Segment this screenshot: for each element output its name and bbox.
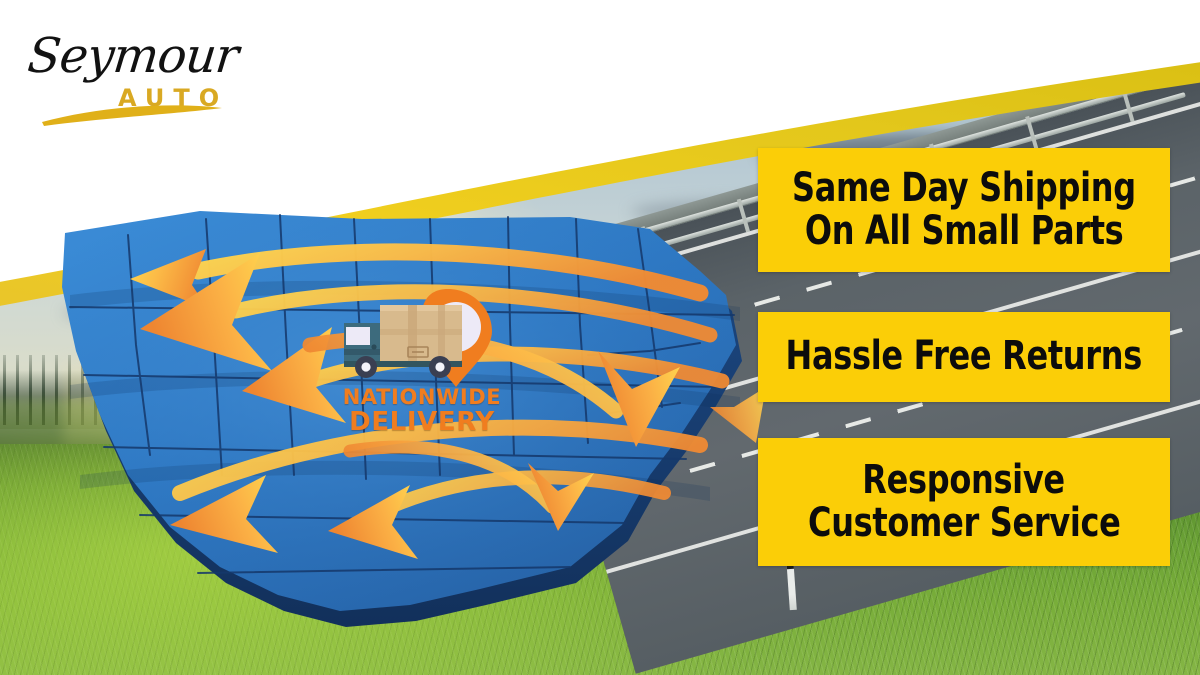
delivery-truck-and-pin-icons: [322, 283, 522, 393]
nationwide-delivery-caption: NATIONWIDE DELIVERY: [322, 387, 522, 435]
promo-banner: NATIONWIDE DELIVERY Same Day Shipping On…: [0, 0, 1200, 675]
delivery-caption-line-1: NATIONWIDE: [322, 387, 522, 409]
seymour-auto-logo[interactable]: Seymour AUTO: [22, 18, 232, 128]
panel-3-line-2: Customer Service: [808, 502, 1120, 545]
value-prop-panel-returns: Hassle Free Returns: [758, 312, 1170, 402]
value-prop-panel-shipping: Same Day Shipping On All Small Parts: [758, 148, 1170, 272]
panel-1-line-2: On All Small Parts: [805, 210, 1124, 253]
panel-2-line-1: Hassle Free Returns: [786, 335, 1142, 378]
delivery-caption-line-2: DELIVERY: [322, 409, 522, 436]
delivery-truck-icon: [344, 305, 462, 378]
panel-3-line-1: Responsive: [863, 459, 1065, 502]
panel-1-line-1: Same Day Shipping: [792, 167, 1136, 210]
logo-swoosh-icon: [22, 92, 232, 128]
value-prop-panel-service: Responsive Customer Service: [758, 438, 1170, 566]
logo-script-text: Seymour: [25, 28, 241, 84]
nationwide-delivery-lockup: NATIONWIDE DELIVERY: [322, 283, 522, 453]
